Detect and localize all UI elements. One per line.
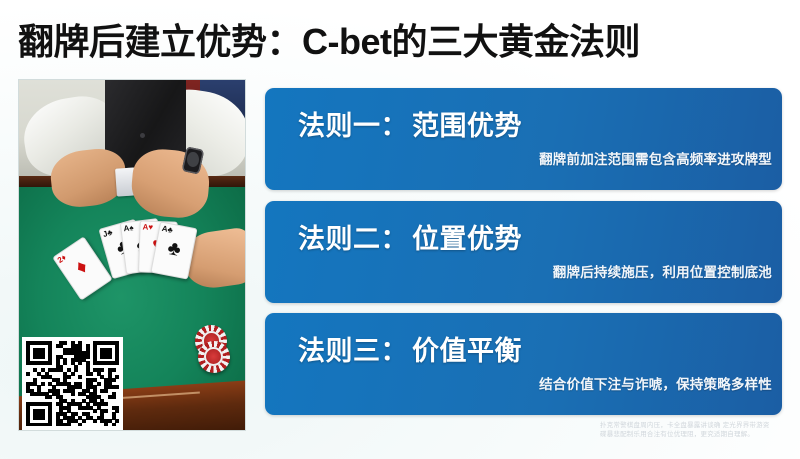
footer-line-1: 扑克常警棋盘周内压，卡全盘暴露讲谈确 定光界界带游资 [600, 421, 792, 430]
footer-line-2: 碟暴悲配制乐用合注有位优理阻，更究适期自理解。 [600, 430, 792, 439]
card-rank-pip: J♣ [102, 229, 114, 239]
rule-card-1[interactable]: 法则一：范围优势 翻牌前加注范围需包含高频率进攻牌型 [265, 88, 782, 190]
rule-card-2-value: 位置优势 [412, 224, 522, 254]
rule-card-3-value: 价值平衡 [412, 336, 522, 366]
rule-card-3-label: 法则三： [298, 336, 408, 366]
rule-card-1-value: 范围优势 [412, 111, 522, 141]
rule-card-3[interactable]: 法则三：价值平衡 结合价值下注与诈唬，保持策略多样性 [265, 313, 782, 415]
rule-card-3-heading: 法则三：价值平衡 [298, 329, 522, 368]
rule-card-2-subtitle: 翻牌后持续施压，利用位置控制底池 [553, 261, 772, 281]
rule-card-2[interactable]: 法则二：位置优势 翻牌后持续施压，利用位置控制底池 [265, 201, 782, 303]
qr-code-image [26, 341, 119, 426]
rule-card-1-subtitle: 翻牌前加注范围需包含高频率进攻牌型 [539, 148, 772, 168]
fanned-cards: 2♦♦J♣♣A♠♠A♥♥A♣♣ [76, 220, 203, 297]
card-suit-symbol: ♣ [165, 237, 182, 262]
rule-card-1-label: 法则一： [298, 111, 408, 141]
card-suit-symbol: ♦ [71, 255, 92, 280]
footer-disclaimer: 扑克常警棋盘周内压，卡全盘暴露讲谈确 定光界界带游资 碟暴悲配制乐用合注有位优理… [600, 421, 792, 439]
card-rank-pip: A♠ [123, 224, 134, 233]
vest-button [140, 133, 145, 138]
rule-card-1-heading: 法则一：范围优势 [298, 104, 522, 143]
poster-canvas: 翻牌后建立优势：C-bet的三大黄金法则 2♦♦J♣♣A♠♠A♥♥A♣♣ 法则一… [0, 0, 800, 459]
card-rank-pip: A♣ [161, 225, 173, 235]
qr-code[interactable] [22, 337, 123, 430]
poker-chip [198, 341, 230, 373]
rule-card-2-label: 法则二： [298, 224, 408, 254]
page-title: 翻牌后建立优势：C-bet的三大黄金法则 [18, 17, 786, 69]
card-rank-pip: 2♦ [56, 254, 68, 265]
rule-card-3-subtitle: 结合价值下注与诈唬，保持策略多样性 [539, 373, 772, 393]
card-rank-pip: A♥ [142, 223, 153, 231]
rule-card-2-heading: 法则二：位置优势 [298, 217, 522, 256]
